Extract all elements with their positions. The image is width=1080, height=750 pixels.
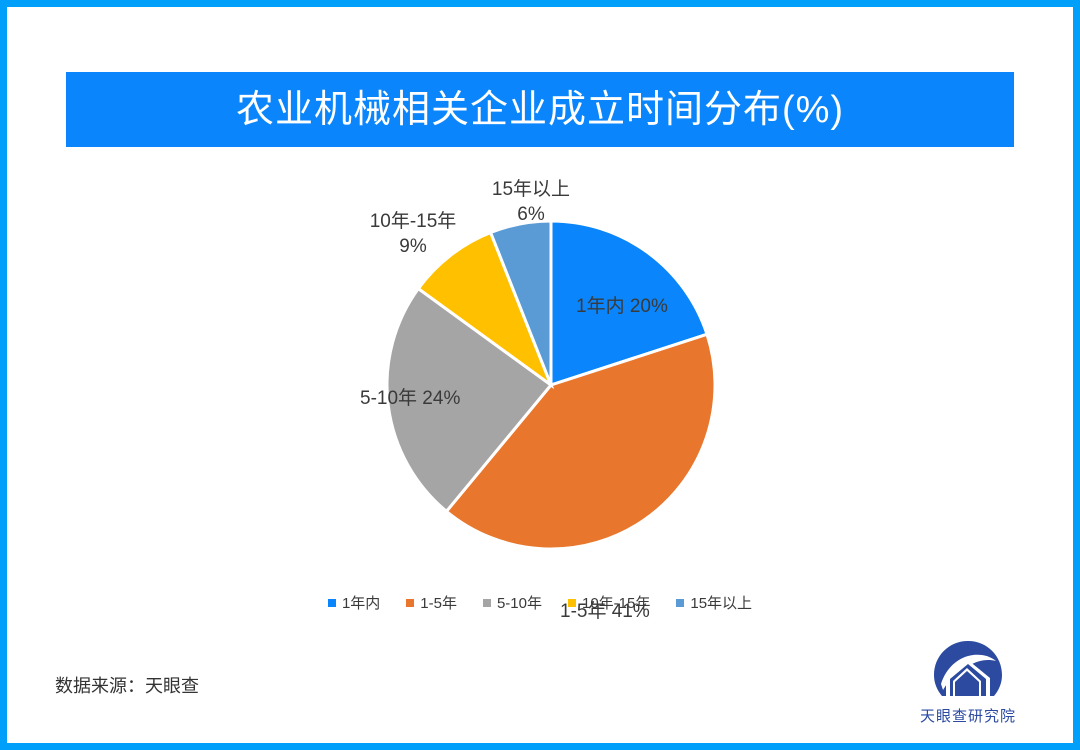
legend-item-label: 1-5年	[420, 592, 457, 613]
brand-logo-text: 天眼查研究院	[920, 705, 1016, 726]
data-source-label: 数据来源：天眼查	[55, 672, 199, 698]
pie-graphic	[384, 218, 718, 552]
pie-slice-group	[387, 221, 715, 549]
legend-item[interactable]: 15年以上	[676, 592, 752, 613]
legend-swatch-icon	[483, 599, 491, 607]
pie-outside-label-10to15-value: 9%	[348, 235, 478, 260]
page-title: 农业机械相关企业成立时间分布(%)	[236, 91, 844, 129]
legend-item-label: 10年-15年	[582, 592, 650, 613]
legend-swatch-icon	[568, 599, 576, 607]
chart-legend: 1年内 1-5年 5-10年 10年-15年 15年以上	[0, 592, 1080, 613]
legend-item-label: 5-10年	[497, 592, 542, 613]
legend-swatch-icon	[328, 599, 336, 607]
legend-swatch-icon	[406, 599, 414, 607]
pie-outside-label-15plus: 15年以上 6%	[471, 178, 591, 227]
page-border-bottom	[0, 743, 1080, 750]
pie-svg	[384, 218, 718, 552]
pie-chart: 15年以上 6% 10年-15年 9% 1年内 20% 1-5年 41% 5-1…	[0, 160, 1080, 610]
pie-outside-label-15plus-value: 6%	[471, 203, 591, 228]
legend-item[interactable]: 1-5年	[406, 592, 457, 613]
legend-swatch-icon	[676, 599, 684, 607]
legend-item[interactable]: 1年内	[328, 592, 380, 613]
legend-item-label: 15年以上	[690, 592, 752, 613]
brand-logo: 天眼查研究院	[920, 638, 1016, 734]
tianyancha-logo-icon	[920, 638, 1016, 704]
legend-item[interactable]: 5-10年	[483, 592, 542, 613]
title-banner: 农业机械相关企业成立时间分布(%)	[66, 72, 1014, 147]
legend-item[interactable]: 10年-15年	[568, 592, 650, 613]
page-border-top	[0, 0, 1080, 7]
pie-outside-label-10to15: 10年-15年 9%	[348, 210, 478, 259]
legend-item-label: 1年内	[342, 592, 380, 613]
pie-inside-label-5to10years: 5-10年 24%	[360, 387, 460, 411]
pie-inside-label-within1year: 1年内 20%	[576, 295, 668, 319]
pie-outside-label-10to15-category: 10年-15年	[348, 210, 478, 235]
pie-outside-label-15plus-category: 15年以上	[471, 178, 591, 203]
infographic-page: 农业机械相关企业成立时间分布(%) 15年以上 6% 10年-15年 9% 1年…	[0, 0, 1080, 750]
